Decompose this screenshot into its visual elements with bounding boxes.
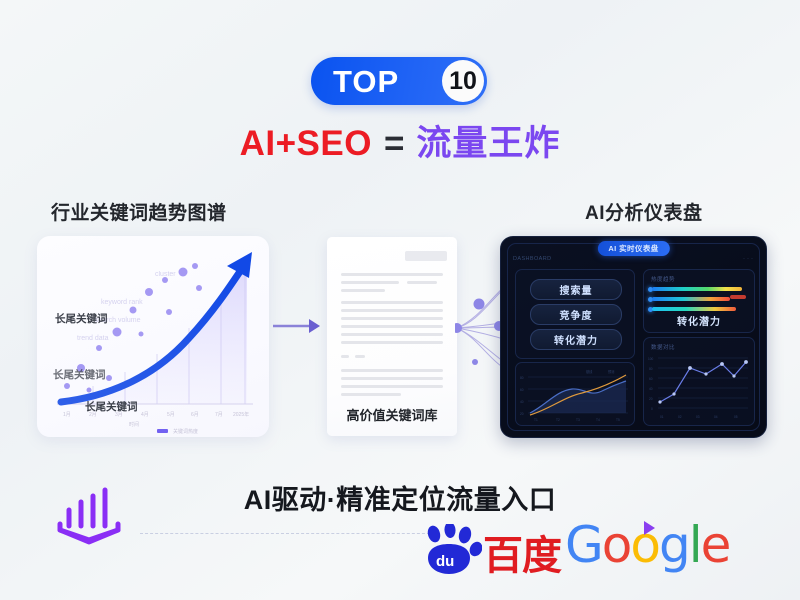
svg-text:6月: 6月 bbox=[191, 412, 199, 418]
dashboard-gradient-panel: 热度趋势 转化潜力 bbox=[643, 269, 755, 333]
svg-text:预测: 预测 bbox=[608, 369, 614, 374]
dashboard-line-chart-panel: 数据对比 10080 bbox=[643, 337, 755, 426]
svg-text:40: 40 bbox=[649, 387, 653, 391]
google-letter-o1: o bbox=[602, 516, 631, 574]
svg-text:20: 20 bbox=[649, 397, 653, 401]
baidu-chinese-text: 百度 bbox=[483, 536, 561, 576]
svg-text:7月: 7月 bbox=[215, 412, 223, 418]
keyword-trend-card: keyword rank search volume trend data cl… bbox=[37, 236, 269, 437]
main-headline: AI+SEO=流量王炸 bbox=[0, 126, 800, 161]
svg-text:80: 80 bbox=[649, 367, 653, 371]
ai-dashboard-card: AI 实时仪表盘 DASHBOARD ··· 搜索量 竞争度 转化潜力 热度趋势… bbox=[500, 236, 767, 438]
svg-text:04: 04 bbox=[714, 415, 718, 419]
svg-text:T5: T5 bbox=[616, 418, 620, 422]
slide-canvas: TOP 10 AI+SEO=流量王炸 行业关键词趋势图谱 AI分析仪表盘 bbox=[0, 0, 800, 600]
trend-tag-3: 长尾关键词 bbox=[85, 399, 138, 414]
svg-text:0: 0 bbox=[651, 407, 653, 411]
gradient-bar-1 bbox=[652, 287, 742, 291]
top-badge-number: 10 bbox=[442, 60, 484, 102]
google-letter-g: g bbox=[659, 516, 689, 574]
svg-text:40: 40 bbox=[520, 400, 524, 404]
svg-text:cluster: cluster bbox=[155, 271, 176, 278]
svg-text:keyword rank: keyword rank bbox=[101, 299, 143, 306]
google-letter-l: l bbox=[689, 516, 701, 574]
headline-equals: = bbox=[384, 124, 404, 163]
svg-text:05: 05 bbox=[734, 415, 738, 419]
svg-text:100: 100 bbox=[648, 357, 654, 361]
gradient-bar-3 bbox=[652, 307, 736, 311]
search-engine-logos: du 百度 Google bbox=[420, 518, 750, 588]
svg-text:80: 80 bbox=[520, 376, 524, 380]
svg-text:4月: 4月 bbox=[141, 412, 149, 418]
line-chart-graphic: 10080 6040 200 0102 0304 05 bbox=[644, 350, 754, 422]
baidu-logo: du 百度 bbox=[420, 524, 561, 576]
dashboard-brand-label: DASHBOARD bbox=[513, 256, 551, 262]
dashboard-menu-icon[interactable]: ··· bbox=[743, 256, 755, 262]
svg-text:关键词热度: 关键词热度 bbox=[173, 428, 198, 435]
headline-ai-seo: AI+SEO bbox=[240, 124, 372, 163]
metric-button-conversion[interactable]: 转化潜力 bbox=[530, 329, 622, 350]
svg-text:20: 20 bbox=[520, 412, 524, 416]
svg-text:T3: T3 bbox=[576, 418, 580, 422]
google-letter-G: G bbox=[565, 516, 602, 574]
svg-text:60: 60 bbox=[649, 377, 653, 381]
baidu-du-text: du bbox=[436, 553, 454, 570]
document-caption: 高价值关键词库 bbox=[327, 405, 457, 424]
svg-text:T1: T1 bbox=[534, 418, 538, 422]
metric-button-search-volume[interactable]: 搜索量 bbox=[530, 279, 622, 300]
gradient-overlay-label: 转化潜力 bbox=[644, 313, 754, 328]
left-section-title: 行业关键词趋势图谱 bbox=[51, 198, 227, 225]
svg-text:trend data: trend data bbox=[77, 335, 109, 342]
metric-button-competition[interactable]: 竞争度 bbox=[530, 304, 622, 325]
document-header-chip bbox=[405, 251, 447, 261]
gradient-bar-2 bbox=[652, 297, 730, 301]
baidu-paw-icon: du bbox=[420, 524, 482, 576]
svg-text:基线: 基线 bbox=[586, 369, 593, 374]
trend-tag-1: 长尾关键词 bbox=[55, 311, 108, 326]
play-triangle-icon bbox=[644, 521, 655, 535]
top-rank-badge: TOP 10 bbox=[311, 57, 487, 105]
trend-chart-graphic: keyword rank search volume trend data cl… bbox=[37, 236, 269, 437]
bottom-divider bbox=[140, 533, 435, 534]
headline-result: 流量王炸 bbox=[416, 124, 560, 163]
svg-text:T4: T4 bbox=[596, 418, 600, 422]
dashboard-area-chart-panel: 8060 4020 T1T2 T3T4 T5 基线预测 bbox=[515, 362, 635, 426]
flow-arrow-right-icon bbox=[273, 318, 321, 334]
svg-text:03: 03 bbox=[696, 415, 700, 419]
right-section-title: AI分析仪表盘 bbox=[585, 198, 703, 225]
svg-text:2025年: 2025年 bbox=[233, 411, 249, 418]
svg-text:02: 02 bbox=[678, 415, 682, 419]
svg-text:01: 01 bbox=[660, 415, 664, 419]
svg-text:1月: 1月 bbox=[63, 412, 71, 418]
svg-text:T2: T2 bbox=[556, 418, 560, 422]
dashboard-title-pill: AI 实时仪表盘 bbox=[597, 241, 669, 256]
google-letter-e: e bbox=[701, 516, 730, 574]
area-chart-graphic: 8060 4020 T1T2 T3T4 T5 基线预测 bbox=[516, 363, 634, 425]
svg-text:时间: 时间 bbox=[129, 421, 139, 428]
gradient-alert-chip bbox=[730, 295, 746, 299]
top-badge-label: TOP bbox=[333, 66, 399, 97]
trend-tag-2: 长尾关键词 bbox=[53, 367, 106, 382]
gradient-panel-title: 热度趋势 bbox=[651, 275, 675, 283]
keyword-library-document: 高价值关键词库 bbox=[327, 237, 457, 436]
dashboard-metric-panel: 搜索量 竞争度 转化潜力 bbox=[515, 269, 635, 359]
svg-text:5月: 5月 bbox=[167, 412, 175, 418]
bar-chart-pedestal-icon bbox=[52, 484, 126, 552]
svg-text:60: 60 bbox=[520, 388, 524, 392]
